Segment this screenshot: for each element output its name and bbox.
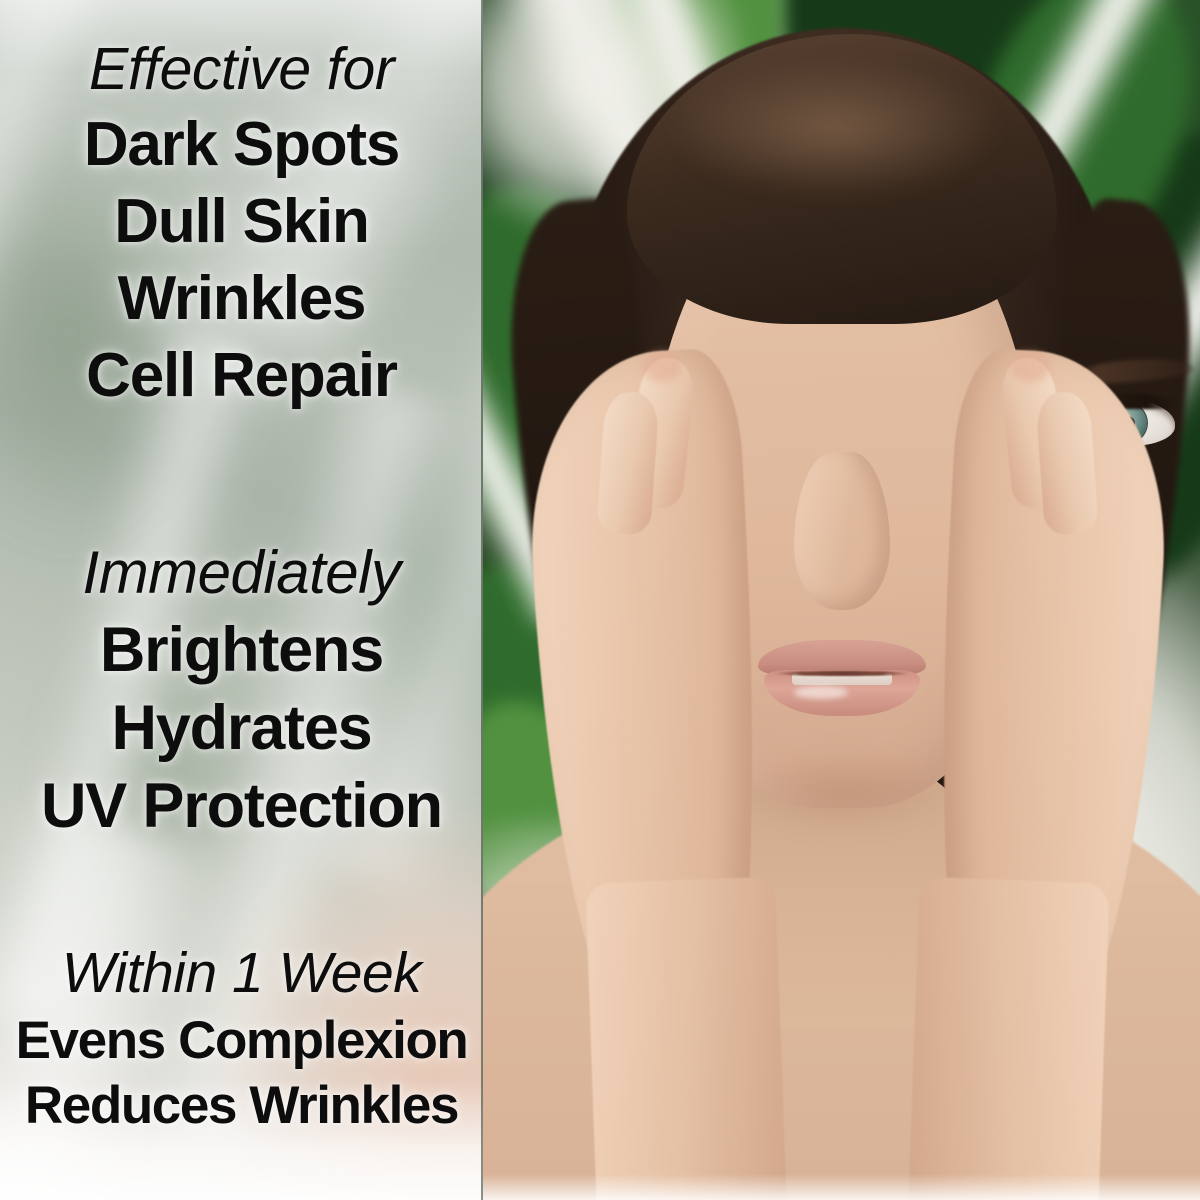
benefit-item-evens-complexion: Evens Complexion	[0, 1008, 483, 1073]
benefit-item-wrinkles: Wrinkles	[0, 260, 483, 337]
benefit-block-immediately: Immediately Brightens Hydrates UV Protec…	[0, 535, 483, 845]
portrait-photo-panel	[483, 0, 1200, 1200]
photo-bottom-fade	[483, 1174, 1200, 1200]
poster-root: Effective for Dark Spots Dull Skin Wrink…	[0, 0, 1200, 1200]
benefit-item-uv-protection: UV Protection	[0, 767, 483, 845]
benefit-block-within-1-week: Within 1 Week Evens Complexion Reduces W…	[0, 938, 483, 1138]
finger-left-middle	[596, 390, 660, 535]
lips	[758, 640, 926, 718]
forearm-left	[585, 877, 786, 1200]
benefit-item-hydrates: Hydrates	[0, 689, 483, 767]
benefit-block-kicker: Effective for	[0, 32, 483, 106]
forearm-right	[908, 877, 1109, 1200]
fingertip-left	[643, 352, 683, 382]
panel-divider	[481, 0, 483, 1200]
benefit-block-kicker: Immediately	[0, 535, 483, 611]
benefit-item-dull-skin: Dull Skin	[0, 183, 483, 260]
benefits-text-panel: Effective for Dark Spots Dull Skin Wrink…	[0, 0, 483, 1200]
upper-lip	[758, 640, 926, 674]
woman-portrait	[483, 0, 1200, 1200]
benefit-item-cell-repair: Cell Repair	[0, 337, 483, 414]
fingertip-right	[1010, 352, 1050, 382]
mouth-line	[774, 671, 910, 676]
benefit-item-dark-spots: Dark Spots	[0, 106, 483, 183]
lip-gloss-highlight	[794, 686, 848, 699]
hair-highlight	[670, 58, 1000, 198]
chin-shadow	[737, 752, 947, 832]
benefit-block-kicker: Within 1 Week	[0, 938, 483, 1008]
benefit-item-reduces-wrinkles: Reduces Wrinkles	[0, 1073, 483, 1138]
benefit-block-effective-for: Effective for Dark Spots Dull Skin Wrink…	[0, 32, 483, 414]
nose	[794, 452, 890, 610]
benefit-item-brightens: Brightens	[0, 611, 483, 689]
